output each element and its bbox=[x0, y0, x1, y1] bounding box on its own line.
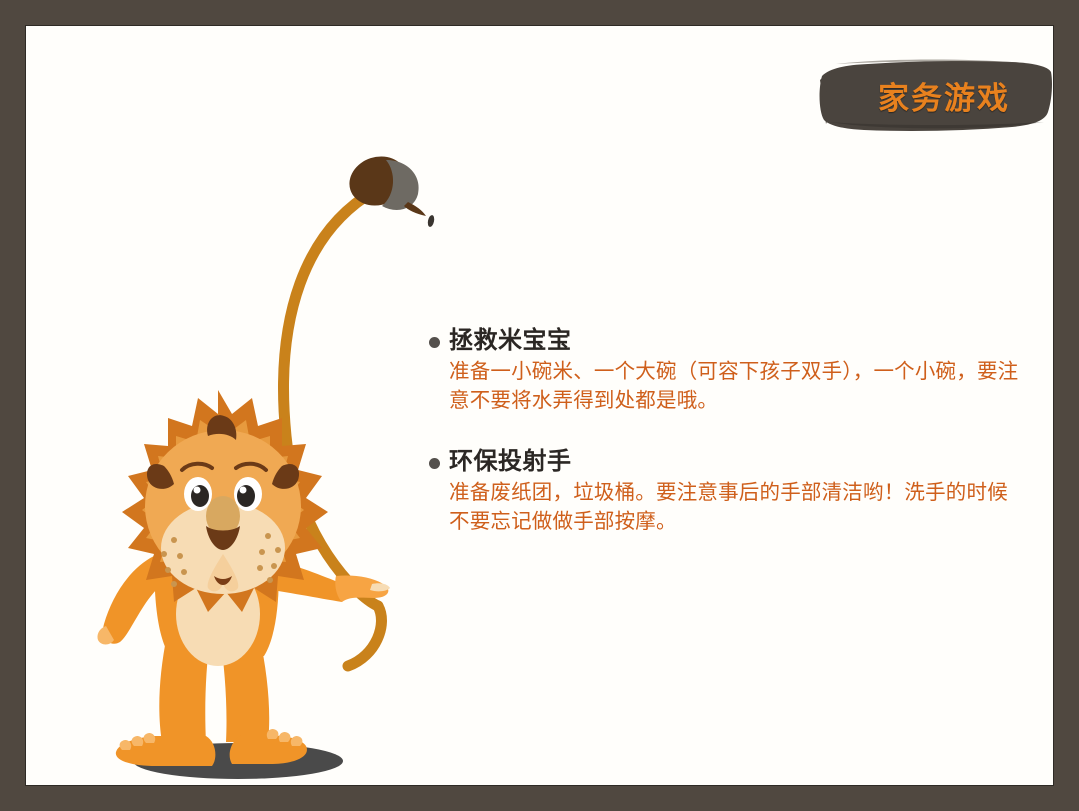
tail-tuft bbox=[343, 149, 435, 227]
lion-tail-lower bbox=[348, 606, 381, 666]
bullet-heading-2: 环保投射手 bbox=[449, 447, 572, 478]
slide-frame: 家务游戏 bbox=[0, 0, 1079, 811]
bullet-dot-icon bbox=[429, 458, 440, 469]
slide-page: 家务游戏 bbox=[26, 26, 1053, 785]
bullet-row-1: 拯救米宝宝 bbox=[429, 326, 1029, 357]
title-banner: 家务游戏 bbox=[816, 54, 1056, 136]
bullet-heading-1: 拯救米宝宝 bbox=[449, 326, 572, 357]
lion-eye-left bbox=[184, 477, 212, 511]
bullet-dot-icon bbox=[429, 337, 440, 348]
bullet-body-1: 准备一小碗米、一个大碗（可容下孩子双手），一个小碗，要注意不要将水弄得到处都是哦… bbox=[449, 357, 1027, 415]
bullet-block-2: 环保投射手 准备废纸团，垃圾桶。要注意事后的手部清洁哟！洗手的时候不要忘记做做手… bbox=[429, 447, 1029, 536]
bullet-block-1: 拯救米宝宝 准备一小碗米、一个大碗（可容下孩子双手），一个小碗，要注意不要将水弄… bbox=[429, 326, 1029, 415]
title-text: 家务游戏 bbox=[816, 54, 1056, 136]
lion-eye-right bbox=[234, 477, 262, 511]
bullet-body-2: 准备废纸团，垃圾桶。要注意事后的手部清洁哟！洗手的时候不要忘记做做手部按摩。 bbox=[449, 478, 1027, 536]
lion-illustration bbox=[56, 136, 476, 786]
content-area: 拯救米宝宝 准备一小碗米、一个大碗（可容下孩子双手），一个小碗，要注意不要将水弄… bbox=[429, 326, 1029, 568]
bullet-row-2: 环保投射手 bbox=[429, 447, 1029, 478]
